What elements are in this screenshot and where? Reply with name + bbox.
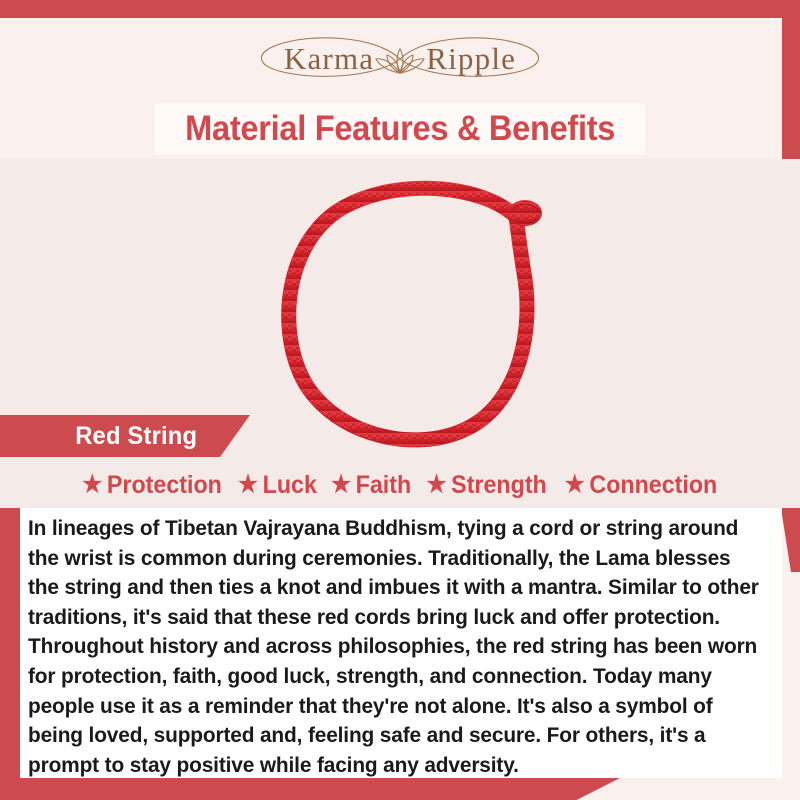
frame-top-bar bbox=[0, 0, 800, 18]
keyword-connection: ★ Connection bbox=[565, 471, 718, 500]
description-block: In lineages of Tibetan Vajrayana Buddhis… bbox=[20, 508, 782, 778]
title-band: Material Features & Benefits bbox=[155, 103, 645, 155]
material-banner: Red String bbox=[0, 415, 250, 457]
keyword-strength: ★ Strength bbox=[426, 471, 546, 500]
bracelet-knot bbox=[508, 200, 542, 226]
brand-name-right: Ripple bbox=[426, 41, 516, 76]
red-string-bracelet-image bbox=[248, 169, 578, 459]
brand-name: KarmaRipple bbox=[284, 41, 516, 77]
page-title: Material Features & Benefits bbox=[185, 109, 615, 149]
keyword-label: Luck bbox=[262, 471, 316, 500]
keyword-label: Protection bbox=[107, 471, 222, 500]
keyword-label: Faith bbox=[355, 471, 411, 500]
bracelet-braid-texture bbox=[289, 188, 527, 440]
keyword-faith: ★ Faith bbox=[331, 471, 411, 500]
keyword-label: Connection bbox=[590, 471, 718, 500]
star-icon: ★ bbox=[331, 473, 351, 497]
star-icon: ★ bbox=[238, 473, 258, 497]
frame-bottom-bar bbox=[0, 778, 620, 800]
keyword-luck: ★ Luck bbox=[238, 471, 317, 500]
description-text: In lineages of Tibetan Vajrayana Buddhis… bbox=[28, 514, 761, 780]
keyword-label: Strength bbox=[451, 471, 547, 500]
brand-logo: KarmaRipple bbox=[0, 28, 800, 90]
star-icon: ★ bbox=[565, 473, 585, 497]
benefit-keywords: ★ Protection ★ Luck ★ Faith ★ Strength ★… bbox=[22, 464, 778, 506]
brand-name-left: Karma bbox=[284, 41, 374, 76]
material-banner-label: Red String bbox=[75, 422, 197, 451]
keyword-protection: ★ Protection bbox=[82, 471, 222, 500]
star-icon: ★ bbox=[426, 473, 446, 497]
star-icon: ★ bbox=[82, 473, 102, 497]
infographic-page: KarmaRipple Material Features & Benefits bbox=[0, 0, 800, 800]
